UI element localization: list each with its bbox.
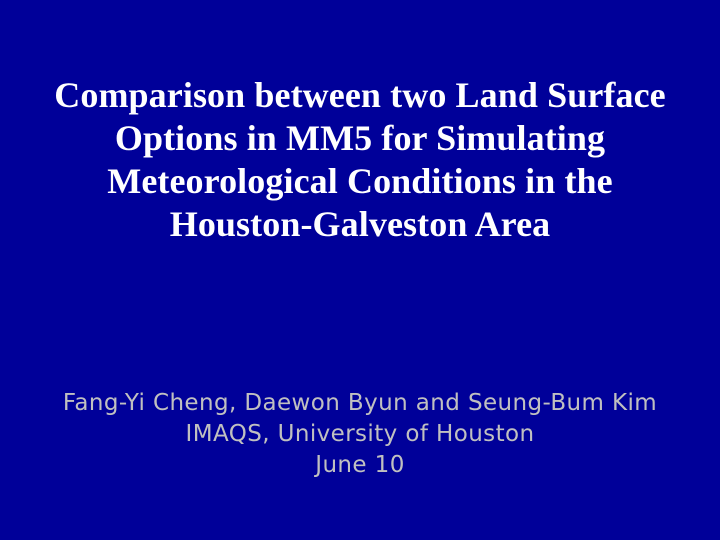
title-line-3: Meteorological Conditions in the	[0, 160, 720, 203]
title-line-4: Houston-Galveston Area	[0, 203, 720, 246]
presentation-slide: Comparison between two Land Surface Opti…	[0, 0, 720, 540]
title-line-1: Comparison between two Land Surface	[0, 74, 720, 117]
title-line-2: Options in MM5 for Simulating	[0, 117, 720, 160]
author-names: Fang-Yi Cheng, Daewon Byun and Seung-Bum…	[0, 388, 720, 419]
presentation-date: June 10	[0, 450, 720, 481]
slide-author-block: Fang-Yi Cheng, Daewon Byun and Seung-Bum…	[0, 388, 720, 481]
slide-title: Comparison between two Land Surface Opti…	[0, 74, 720, 246]
author-affiliation: IMAQS, University of Houston	[0, 419, 720, 450]
